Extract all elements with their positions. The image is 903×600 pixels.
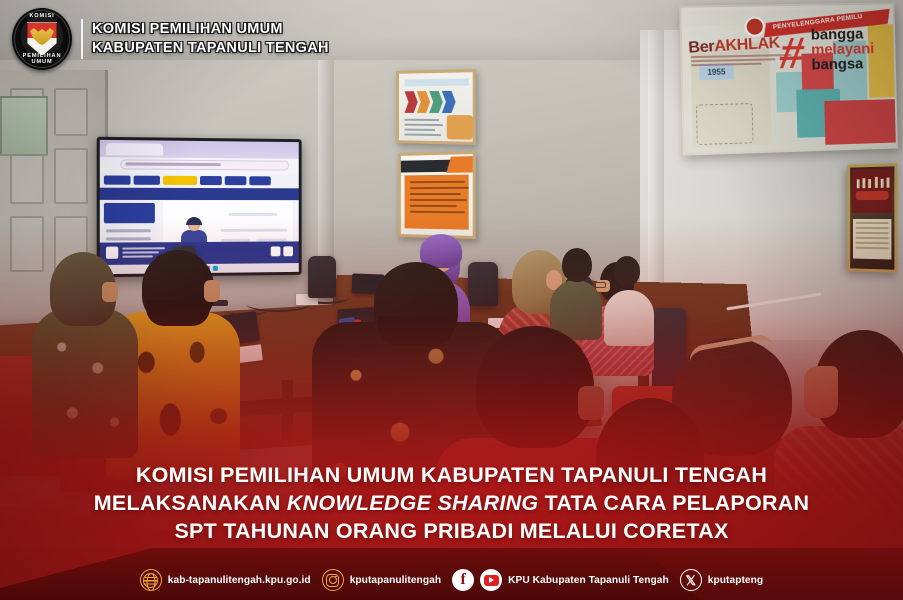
caption-line-2: MELAKSANAKAN KNOWLEDGE SHARING TATA CARA… (48, 490, 855, 518)
social-media-poster: 1955 PENYELENGGARA PEMILU BerAKHLAK # ba… (0, 0, 903, 600)
footer-label-x: kputapteng (708, 575, 763, 586)
sidebar-line-2 (106, 237, 151, 240)
kpu-logo-top-text: KOMISI (12, 13, 72, 19)
chair-black-3 (468, 262, 498, 306)
header-divider (81, 19, 83, 59)
berakhlak-poster: 1955 PENYELENGGARA PEMILU BerAKHLAK # ba… (679, 2, 898, 155)
framed-certificate (847, 163, 897, 273)
site-sidebar (104, 203, 155, 223)
hashtag-line-3: bangsa (811, 56, 874, 72)
chair-black-2 (308, 256, 336, 298)
caption-line-1: KOMISI PEMILIHAN UMUM KABUPATEN TAPANULI… (48, 462, 855, 490)
x-twitter-icon[interactable]: 𝕏 (680, 569, 702, 591)
header-line-1: KOMISI PEMILIHAN UMUM (92, 21, 329, 38)
nav-pill-5 (225, 176, 247, 185)
caption-line-2-italic: KNOWLEDGE SHARING (287, 491, 539, 515)
nav-pill-4 (200, 176, 222, 185)
wall-poster-bottom (398, 151, 476, 239)
poster-hashtag-block: # bangga melayani bangsa (779, 26, 891, 90)
form-line-1 (229, 213, 278, 216)
display-screen (100, 140, 299, 274)
kpu-logo-bottom-text: PEMILIHAN UMUM (12, 53, 72, 65)
instagram-icon[interactable] (322, 569, 344, 591)
nav-pill-2 (134, 176, 160, 185)
footer-label-website: kab-tapanulitengah.kpu.go.id (168, 575, 311, 586)
nav-pill-1 (104, 175, 131, 184)
footer-label-facebook-youtube: KPU Kabupaten Tapanuli Tengah (508, 575, 669, 586)
footer-item-x[interactable]: 𝕏 kputapteng (680, 569, 763, 591)
globe-icon[interactable] (140, 569, 162, 591)
footer-label-instagram: kputapanulitengah (350, 575, 441, 586)
wall-poster-top (396, 69, 476, 145)
nav-pill-6 (249, 176, 270, 185)
site-secondary-nav (100, 188, 299, 200)
youtube-icon[interactable] (480, 569, 502, 591)
caption-block: KOMISI PEMILIHAN UMUM KABUPATEN TAPANULI… (0, 462, 903, 546)
caption-line-2-post: TATA CARA PELAPORAN (538, 491, 809, 515)
footer-item-facebook-youtube[interactable]: f KPU Kabupaten Tapanuli Tengah (452, 569, 669, 591)
header-line-2: KABUPATEN TAPANULI TENGAH (92, 40, 329, 57)
footer-item-instagram[interactable]: kputapanulitengah (322, 569, 441, 591)
social-footer: kab-tapanulitengah.kpu.go.id kputapanuli… (0, 560, 903, 600)
caption-line-3: SPT TAHUNAN ORANG PRIBADI MELALUI CORETA… (48, 518, 855, 546)
sidebar-line-1 (106, 229, 151, 232)
poster-kpu-logo (744, 16, 765, 36)
footer-item-website[interactable]: kab-tapanulitengah.kpu.go.id (140, 569, 311, 591)
table-leg-2 (282, 380, 293, 440)
poster-berakhlak-subtitle (691, 54, 792, 67)
facebook-icon[interactable]: f (452, 569, 474, 591)
form-line-2 (221, 229, 287, 232)
header: KOMISI PEMILIHAN UMUM KOMISI PEMILIHAN U… (12, 8, 329, 70)
caption-line-2-pre: MELAKSANAKAN (94, 491, 287, 515)
kpu-logo-icon: KOMISI PEMILIHAN UMUM (12, 8, 72, 70)
browser-tab (106, 143, 163, 156)
header-title-block: KOMISI PEMILIHAN UMUM KABUPATEN TAPANULI… (92, 21, 329, 56)
window (0, 96, 48, 156)
nav-pill-active (163, 176, 197, 185)
